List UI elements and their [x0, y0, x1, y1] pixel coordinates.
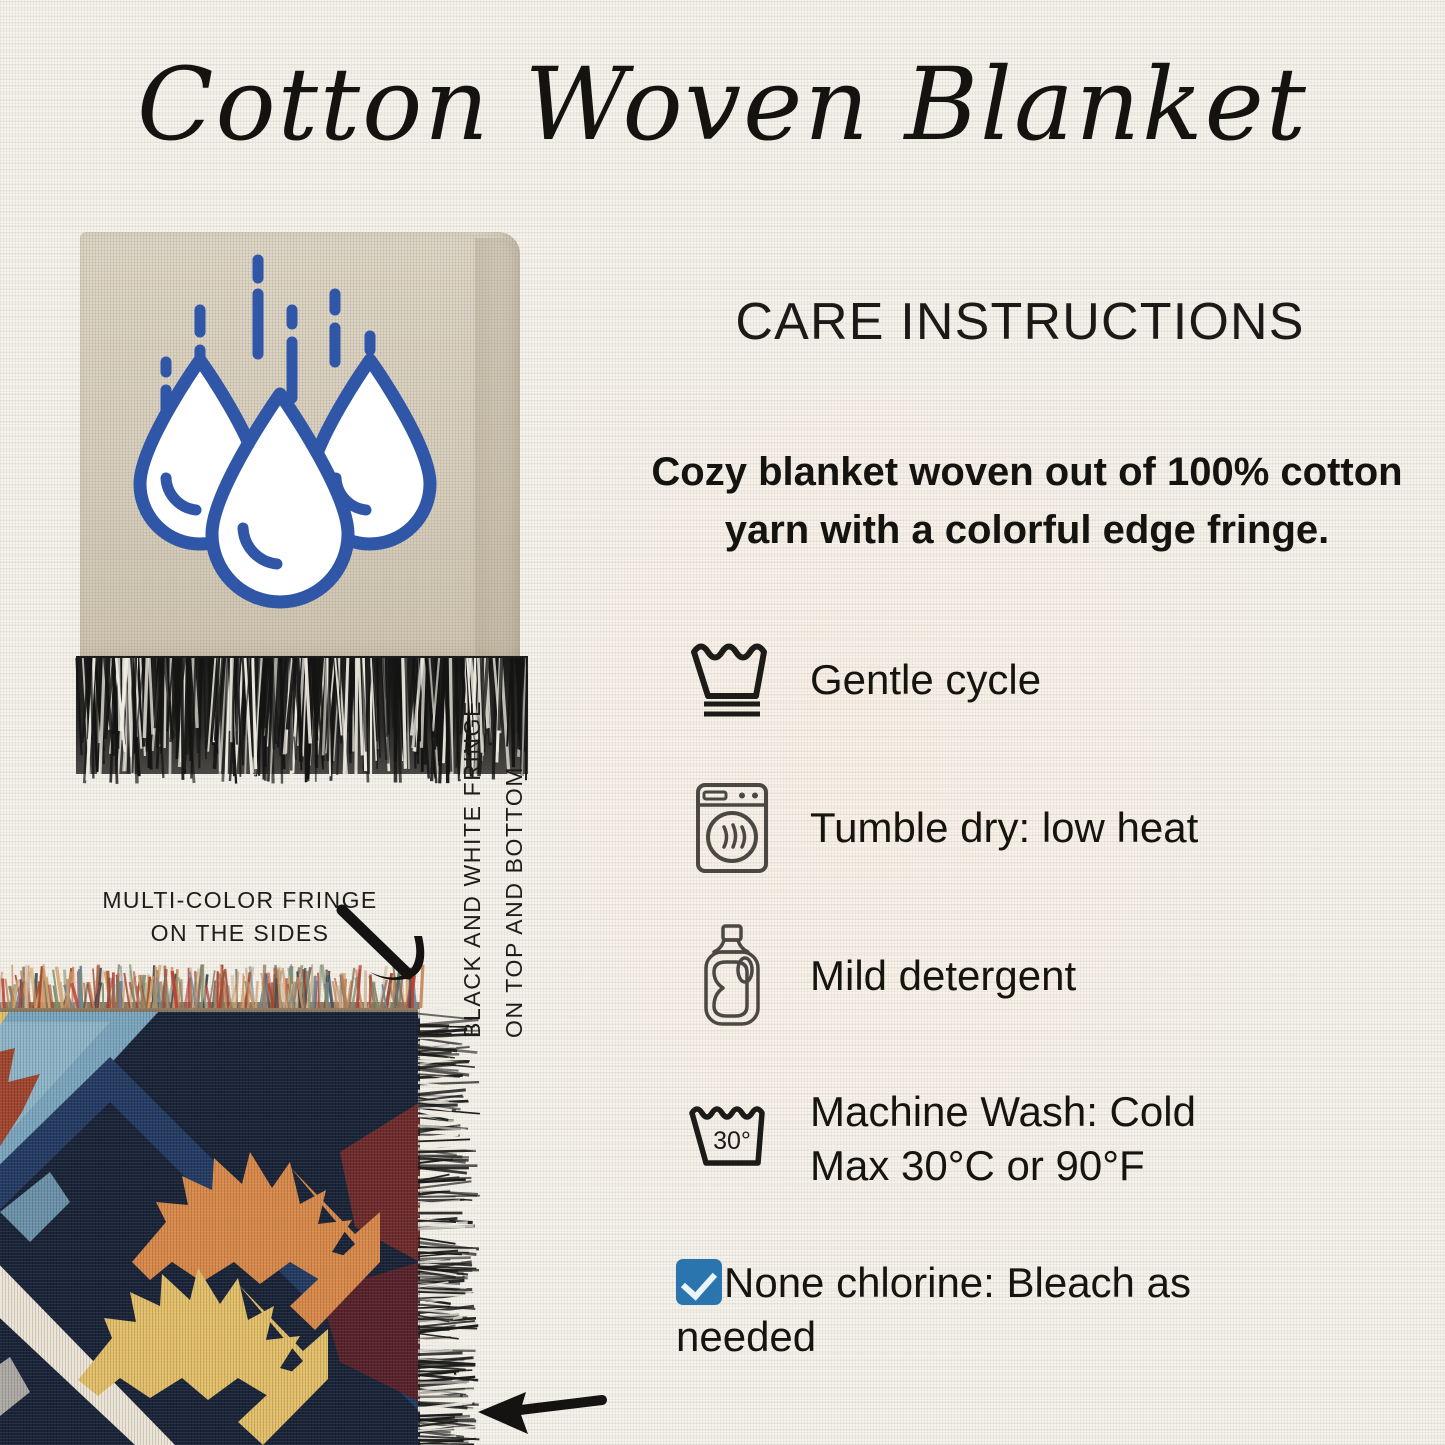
- annotation-line-1: BLACK AND WHITE FRINGE: [459, 678, 487, 1038]
- arrow-to-multicolor-fringe: [330, 900, 460, 1010]
- care-item-label: Mild detergent: [788, 949, 1076, 1003]
- wash-tub-30-degrees-icon: 30°: [676, 1101, 788, 1177]
- tumble-dryer-icon: [676, 779, 788, 877]
- care-item-tumble-dry: Tumble dry: low heat: [676, 768, 1436, 888]
- care-item-machine-wash-cold: 30° Machine Wash: Cold Max 30°C or 90°F: [676, 1064, 1436, 1214]
- care-item-label: Gentle cycle: [788, 653, 1041, 707]
- water-drops-motif: [80, 232, 520, 662]
- care-instructions-list: Gentle cycle Tumble dry:: [676, 620, 1436, 1404]
- product-description: Cozy blanket woven out of 100% cotton ya…: [612, 443, 1442, 559]
- page-title: Cotton Woven Blanket: [0, 52, 1445, 157]
- blue-check-icon: [676, 1259, 722, 1305]
- care-item-mild-detergent: Mild detergent: [676, 916, 1436, 1036]
- care-item-gentle-cycle: Gentle cycle: [676, 620, 1436, 740]
- aztec-blanket-photo: [0, 962, 500, 1445]
- folded-blanket-photo: [80, 232, 520, 802]
- wash-temperature-label: 30°: [713, 1127, 751, 1155]
- care-instructions-heading: CARE INSTRUCTIONS: [620, 292, 1420, 352]
- gentle-wash-tub-icon: [676, 634, 788, 726]
- aztec-pattern: [0, 962, 500, 1445]
- care-item-none-chlorine-bleach: None chlorine: Bleach as needed: [676, 1256, 1436, 1376]
- care-item-label: Tumble dry: low heat: [788, 801, 1198, 855]
- annotation-line-2: ON TOP AND BOTTOM: [501, 766, 529, 1038]
- care-instructions-infographic: Cotton Woven Blanket CARE INSTRUCTIONS C…: [0, 0, 1445, 1445]
- care-item-label-line1: Machine Wash: Cold: [810, 1085, 1196, 1139]
- care-item-label: None chlorine: Bleach as needed: [676, 1259, 1191, 1360]
- annotation-black-white-fringe: BLACK AND WHITE FRINGE ON TOP AND BOTTOM: [459, 678, 487, 1038]
- detergent-bottle-icon: [676, 922, 788, 1030]
- care-item-label-line2: Max 30°C or 90°F: [810, 1139, 1196, 1193]
- arrow-to-black-white-fringe: [470, 1378, 610, 1442]
